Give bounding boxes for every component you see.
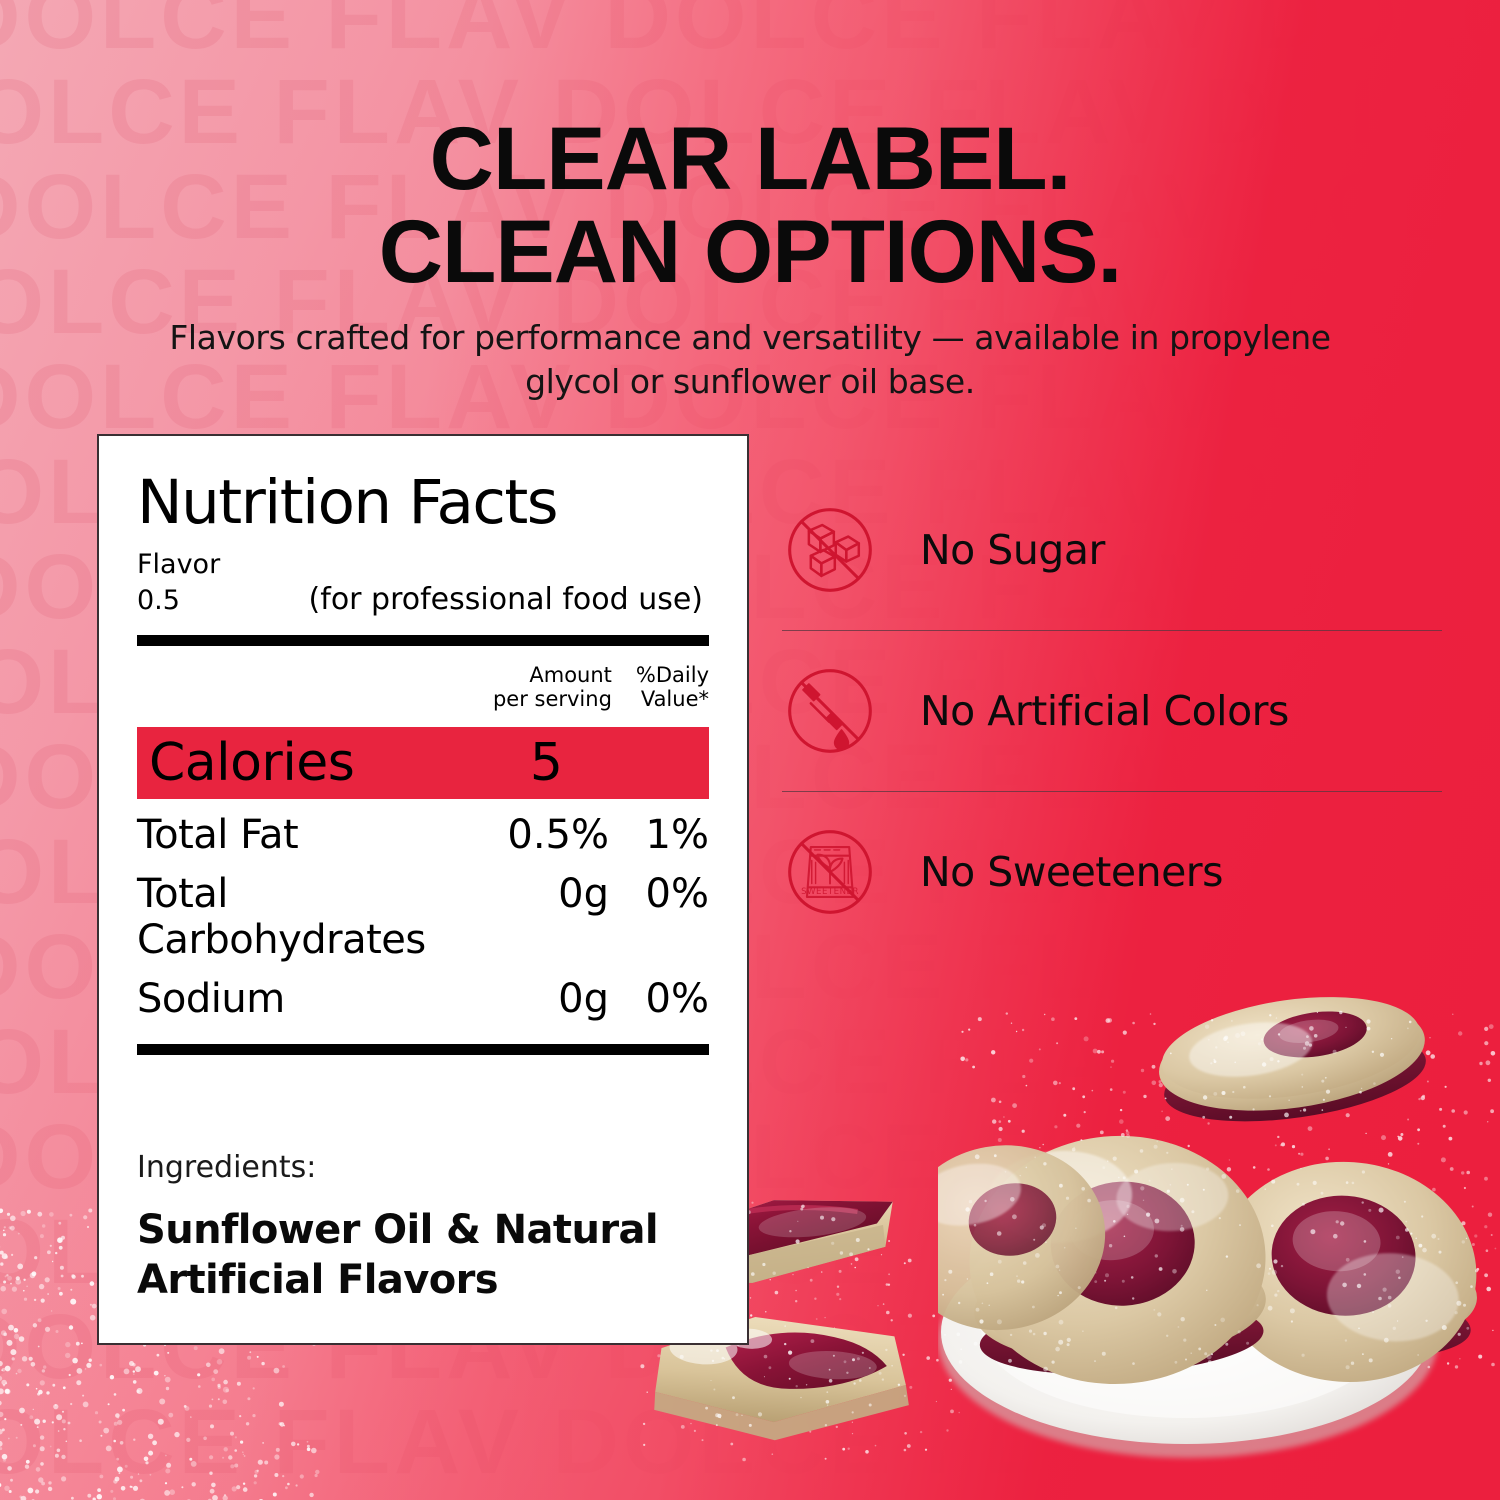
col-daily-value: %Daily Value* [636,663,709,711]
professional-use-note: (for professional food use) [309,582,709,618]
col-amount-line-1: Amount [493,663,612,687]
nutrient-row: Sodium0g0% [137,976,709,1022]
nutrient-amount: 0g [485,871,609,917]
nutrient-row: Total Carbohydrates0g0% [137,871,709,963]
no-sugar-cubes-icon [782,502,878,598]
headline-line-1: CLEAR LABEL. [0,112,1500,205]
ingredients-text: Sunflower Oil & Natural Artificial Flavo… [137,1205,713,1305]
feature-divider-2 [782,791,1442,792]
headline-block: CLEAR LABEL. CLEAN OPTIONS. Flavors craf… [0,112,1500,404]
linzer-cookies-on-plate-photo [938,950,1500,1500]
calories-label: Calories [149,733,530,793]
nutrient-name: Sodium [137,976,485,1022]
feature-label-no-sweeteners: No Sweeteners [920,848,1223,896]
ingredients-line-1: Sunflower Oil & Natural [137,1205,713,1255]
rule-thick-bottom [137,1044,709,1055]
no-dropper-dye-icon [782,663,878,759]
ingredients-line-2: Artificial Flavors [137,1255,713,1305]
calories-bar: Calories 5 [137,727,709,799]
feature-row-no-sweeteners: SWEETENER No Sweeteners [782,792,1442,952]
nutrient-name: Total Carbohydrates [137,871,485,963]
no-sweetener-packet-icon: SWEETENER [782,824,878,920]
ingredients-block: Ingredients: Sunflower Oil & Natural Art… [137,1150,713,1305]
watermark-row: DOLCE FLAV DOLCE FLAV DOLCE FLAV DOLCE F… [0,0,1500,65]
nutrient-daily-value: 1% [609,812,709,858]
flavor-label: Flavor [137,548,709,582]
nutrient-row: Total Fat0.5%1% [137,812,709,858]
col-amount-line-2: per serving [493,687,612,711]
nutrient-rows: Total Fat0.5%1%Total Carbohydrates0g0%So… [137,812,709,1022]
nutrient-amount: 0.5% [485,812,609,858]
nutrient-amount: 0g [485,976,609,1022]
feature-label-no-artificial-colors: No Artificial Colors [920,687,1289,735]
col-dv-line-1: %Daily [636,663,709,687]
col-dv-line-2: Value* [636,687,709,711]
feature-label-no-sugar: No Sugar [920,526,1105,574]
feature-claims-list: No Sugar No Artificial Colors [782,470,1442,952]
nutrient-daily-value: 0% [609,976,709,1022]
subheadline: Flavors crafted for performance and vers… [0,316,1500,404]
nutrition-facts-card: Nutrition Facts Flavor 0.5 (for professi… [97,434,749,1345]
calories-value: 5 [530,733,693,793]
serving-row: 0.5 (for professional food use) [137,582,709,618]
col-amount-per-serving: Amount per serving [493,663,612,711]
headline-line-2: CLEAN OPTIONS. [0,205,1500,298]
feature-divider-1 [782,630,1442,631]
column-headers: Amount per serving %Daily Value* [137,663,709,711]
serving-size-value: 0.5 [137,584,180,618]
nutrient-name: Total Fat [137,812,485,858]
feature-row-no-artificial-colors: No Artificial Colors [782,631,1442,791]
promo-banner: DOLCE FLAV DOLCE FLAV DOLCE FLAV DOLCE F… [0,0,1500,1500]
feature-row-no-sugar: No Sugar [782,470,1442,630]
ingredients-label: Ingredients: [137,1150,713,1185]
nutrition-facts-title: Nutrition Facts [137,470,709,536]
rule-thick-top [137,635,709,646]
nutrient-daily-value: 0% [609,871,709,917]
